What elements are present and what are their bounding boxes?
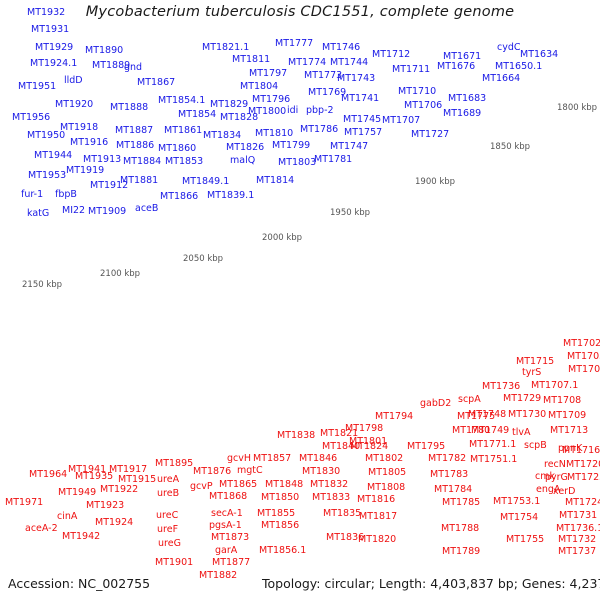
forward-gene-label[interactable]: MT1796 [252,95,290,105]
forward-gene-label[interactable]: MT1744 [330,58,368,68]
reverse-gene-label[interactable]: MT1857 [253,454,291,464]
reverse-gene-label[interactable]: scpB [524,441,547,451]
reverse-gene-label[interactable]: MT1868 [209,492,247,502]
reverse-gene-label[interactable]: MT1709 [548,411,586,421]
reverse-gene-label[interactable]: MT1716 [562,446,600,456]
forward-gene-label[interactable]: MT1929 [35,43,73,53]
reverse-gene-label[interactable]: MT1901 [155,558,193,568]
forward-gene-label[interactable]: MT1861 [164,126,202,136]
forward-gene-label[interactable]: MT1884 [123,157,161,167]
reverse-gene-label[interactable]: MT1794 [375,412,413,422]
reverse-gene-label[interactable]: ureG [158,539,181,549]
forward-gene-label[interactable]: MT1774 [288,58,326,68]
forward-gene-label[interactable]: MT1839.1 [207,191,254,201]
reverse-gene-label[interactable]: ureB [157,489,179,499]
reverse-gene-label[interactable]: secA-1 [211,509,243,519]
reverse-gene-label[interactable]: MT1971 [5,498,43,508]
forward-gene-label[interactable]: MT1909 [88,207,126,217]
reverse-gene-label[interactable]: MT1949 [58,488,96,498]
reverse-gene-label[interactable]: ureF [157,525,178,535]
reverse-gene-label[interactable]: MT1865 [219,480,257,490]
forward-gene-label[interactable]: MT1886 [116,141,154,151]
scale-coordinate-label: 2050 kbp [183,255,223,264]
forward-gene-label[interactable]: MT1814 [256,176,294,186]
reverse-gene-label[interactable]: MT1824 [350,442,388,452]
forward-gene-label[interactable]: malQ [230,156,255,166]
reverse-gene-label[interactable]: MT1715 [516,357,554,367]
reverse-gene-label[interactable]: ureA [157,475,179,485]
reverse-gene-label[interactable]: MT1784 [434,485,472,495]
reverse-gene-label[interactable]: MT1855 [257,509,295,519]
forward-gene-label[interactable]: MT1888 [110,103,148,113]
forward-gene-label[interactable]: MI22 [62,206,85,216]
reverse-gene-label[interactable]: gabD2 [420,399,451,409]
forward-gene-label[interactable]: MT1741 [341,94,379,104]
reverse-gene-label[interactable]: MT1705 [568,365,600,375]
forward-gene-label[interactable]: MT1711 [392,65,430,75]
forward-gene-label[interactable]: MT1811 [232,55,270,65]
scale-coordinate-label: 2100 kbp [100,270,140,279]
forward-gene-label[interactable]: MT1712 [372,50,410,60]
forward-gene-label[interactable]: MT1854 [178,110,216,120]
forward-gene-label[interactable]: MT1828 [220,113,258,123]
reverse-gene-label[interactable]: MT1832 [310,480,348,490]
forward-gene-label[interactable]: MT1916 [70,138,108,148]
reverse-gene-label[interactable]: MT1877 [212,558,250,568]
forward-gene-label[interactable]: MT1804 [240,82,278,92]
reverse-gene-label[interactable]: MT1935 [75,472,113,482]
reverse-gene-label[interactable]: MT1802 [365,454,403,464]
forward-gene-label[interactable]: katG [27,209,49,219]
reverse-gene-label[interactable]: MT1702 [563,339,600,349]
reverse-gene-label[interactable]: recN [544,460,566,470]
reverse-gene-label[interactable]: MT1805 [368,468,406,478]
reverse-gene-label[interactable]: MT1729 [503,394,541,404]
forward-gene-label[interactable]: MT1746 [322,43,360,53]
reverse-gene-label[interactable]: aceA-2 [25,524,58,534]
reverse-gene-label[interactable]: MT1737 [558,547,596,557]
forward-gene-label[interactable]: cydC [497,43,521,53]
forward-gene-label[interactable]: MT1932 [27,8,65,18]
reverse-gene-label[interactable]: MT1795 [407,442,445,452]
reverse-gene-label[interactable]: MT1856.1 [259,546,306,556]
scale-coordinate-label: 1850 kbp [490,143,530,152]
reverse-gene-label[interactable]: MT1707.1 [531,381,578,391]
forward-gene-label[interactable]: MT1803 [278,158,316,168]
reverse-gene-label[interactable]: MT1964 [29,470,67,480]
forward-gene-label[interactable]: MT1944 [34,151,72,161]
reverse-gene-label[interactable]: MT1753.1 [493,497,540,507]
reverse-gene-label[interactable]: MT1873 [211,533,249,543]
reverse-gene-label[interactable]: MT1748 [468,410,506,420]
reverse-gene-label[interactable]: MT1876 [193,467,231,477]
forward-gene-label[interactable]: MT1849.1 [182,177,229,187]
forward-gene-label[interactable]: MT1950 [27,131,65,141]
reverse-gene-label[interactable]: MT1749 [471,426,509,436]
forward-gene-label[interactable]: MT1727 [411,130,449,140]
forward-gene-label[interactable]: MT1821.1 [202,43,249,53]
reverse-gene-label[interactable]: cinA [57,512,77,522]
reverse-gene-label[interactable]: tyrS [522,368,541,378]
reverse-gene-label[interactable]: MT1785 [442,498,480,508]
forward-gene-label[interactable]: MT1951 [18,82,56,92]
reverse-gene-label[interactable]: MT1703 [567,352,600,362]
reverse-gene-label[interactable]: mgtC [237,466,263,476]
forward-gene-label[interactable]: MT1743 [337,74,375,84]
forward-gene-label[interactable]: MT1757 [344,128,382,138]
forward-gene-label[interactable]: MT1799 [272,141,310,151]
reverse-gene-label[interactable]: MT1833 [312,493,350,503]
reverse-gene-label[interactable]: MT1856 [261,521,299,531]
reverse-gene-label[interactable]: MT1817 [359,512,397,522]
reverse-gene-label[interactable]: pyrG [545,473,568,483]
reverse-gene-label[interactable]: MT1835 [323,509,361,519]
reverse-gene-label[interactable]: MT1755 [506,535,544,545]
forward-gene-label[interactable]: MT1781 [314,155,352,165]
forward-gene-label[interactable]: MT1953 [28,171,66,181]
forward-gene-label[interactable]: MT1710 [398,87,436,97]
reverse-gene-label[interactable]: scpA [458,395,481,405]
forward-gene-label[interactable]: MT1919 [66,166,104,176]
forward-gene-label[interactable]: MT1853 [165,157,203,167]
reverse-gene-label[interactable]: MT1923 [86,501,124,511]
reverse-gene-label[interactable]: tlvA [512,428,531,438]
forward-gene-label[interactable]: MT1887 [115,126,153,136]
reverse-gene-label[interactable]: MT1724 [565,498,600,508]
forward-gene-label[interactable]: fbpB [55,190,77,200]
forward-gene-label[interactable]: MT1924.1 [30,59,77,69]
forward-gene-label[interactable]: MT1664 [482,74,520,84]
reverse-gene-label[interactable]: gcvH [227,454,251,464]
forward-gene-label[interactable]: MT1777 [275,39,313,49]
forward-gene-label[interactable]: MT1706 [404,101,442,111]
forward-gene-label[interactable]: MT1747 [330,142,368,152]
forward-gene-label[interactable]: pbp-2 [306,106,334,116]
reverse-gene-label[interactable]: MT1788 [441,524,479,534]
scale-coordinate-label: 1800 kbp [557,104,597,113]
reverse-gene-label[interactable]: MT1736 [482,382,520,392]
forward-gene-label[interactable]: gnd [124,63,142,73]
forward-gene-label[interactable]: MT1834 [203,131,241,141]
reverse-gene-label[interactable]: MT1942 [62,532,100,542]
reverse-gene-label[interactable]: MT1816 [357,495,395,505]
forward-gene-label[interactable]: MT1634 [520,50,558,60]
forward-gene-label[interactable]: MT1867 [137,78,175,88]
reverse-gene-label[interactable]: MT1895 [155,459,193,469]
footer-bar: Accession: NC_002755 Topology: circular;… [0,576,600,596]
reverse-gene-label[interactable]: MT1789 [442,547,480,557]
forward-gene-label[interactable]: MT1786 [300,125,338,135]
reverse-gene-label[interactable]: MT1731 [559,511,597,521]
forward-gene-label[interactable]: aceB [135,204,158,214]
forward-gene-label[interactable]: MT1689 [443,109,481,119]
forward-gene-label[interactable]: MT1683 [448,94,486,104]
reverse-gene-label[interactable]: MT1783 [430,470,468,480]
genome-map-viewer: Mycobacterium tuberculosis CDC1551, comp… [0,0,600,600]
reverse-gene-label[interactable]: MT1713 [550,426,588,436]
forward-gene-label[interactable]: lldD [64,76,83,86]
reverse-gene-label[interactable]: MT1830 [302,467,340,477]
reverse-gene-label[interactable]: pgsA-1 [209,521,242,531]
forward-gene-label[interactable]: MT1920 [55,100,93,110]
reverse-gene-label[interactable]: xerD [553,487,575,497]
forward-gene-label[interactable]: MT1918 [60,123,98,133]
forward-gene-label[interactable]: MT1745 [343,115,381,125]
forward-gene-label[interactable]: MT1650.1 [495,62,542,72]
scale-coordinate-label: 2150 kbp [22,281,62,290]
scale-coordinate-label: 1900 kbp [415,178,455,187]
reverse-gene-label[interactable]: MT1723 [567,473,600,483]
forward-gene-label[interactable]: MT1881 [120,176,158,186]
reverse-gene-label[interactable]: MT1924 [95,518,133,528]
forward-gene-label[interactable]: MT1866 [160,192,198,202]
scale-coordinate-label: 1950 kbp [330,209,370,218]
topology-text: Topology: circular; Length: 4,403,837 bp… [262,576,600,591]
reverse-gene-label[interactable]: MT1771.1 [469,440,516,450]
forward-gene-label[interactable]: MT1826 [226,143,264,153]
reverse-gene-label[interactable]: MT1708 [543,396,581,406]
reverse-gene-label[interactable]: MT1848 [265,480,303,490]
forward-gene-label[interactable]: MT1797 [249,69,287,79]
reverse-gene-label[interactable]: MT1846 [299,454,337,464]
reverse-gene-label[interactable]: MT1782 [428,454,466,464]
forward-gene-label[interactable]: MT1956 [12,113,50,123]
reverse-gene-label[interactable]: MT1820 [358,535,396,545]
forward-gene-label[interactable]: MT1707 [382,116,420,126]
reverse-gene-label[interactable]: MT1730 [508,410,546,420]
forward-gene-label[interactable]: idi [287,106,298,116]
reverse-gene-label[interactable]: ureC [156,511,178,521]
reverse-gene-label[interactable]: MT1736.1 [556,524,600,534]
forward-gene-label[interactable]: MT1890 [85,46,123,56]
scale-coordinate-label: 2000 kbp [262,234,302,243]
forward-gene-label[interactable]: fur-1 [21,190,43,200]
forward-gene-label[interactable]: MT1913 [83,155,121,165]
reverse-gene-label[interactable]: MT1838 [277,431,315,441]
forward-gene-label[interactable]: MT1931 [31,25,69,35]
reverse-gene-label[interactable]: garA [215,546,237,556]
reverse-gene-label[interactable]: MT1732 [558,535,596,545]
reverse-gene-label[interactable]: MT1808 [367,483,405,493]
reverse-gene-label[interactable]: MT1850 [261,493,299,503]
reverse-gene-label[interactable]: MT1754 [500,513,538,523]
forward-gene-label[interactable]: MT1860 [158,144,196,154]
accession-text: Accession: NC_002755 [8,576,150,591]
forward-gene-label[interactable]: MT1676 [437,62,475,72]
forward-gene-label[interactable]: MT1810 [255,129,293,139]
forward-gene-label[interactable]: MT1854.1 [158,96,205,106]
reverse-gene-label[interactable]: MT1751.1 [470,455,517,465]
reverse-gene-label[interactable]: MT1720 [566,460,600,470]
reverse-gene-label[interactable]: MT1922 [100,485,138,495]
